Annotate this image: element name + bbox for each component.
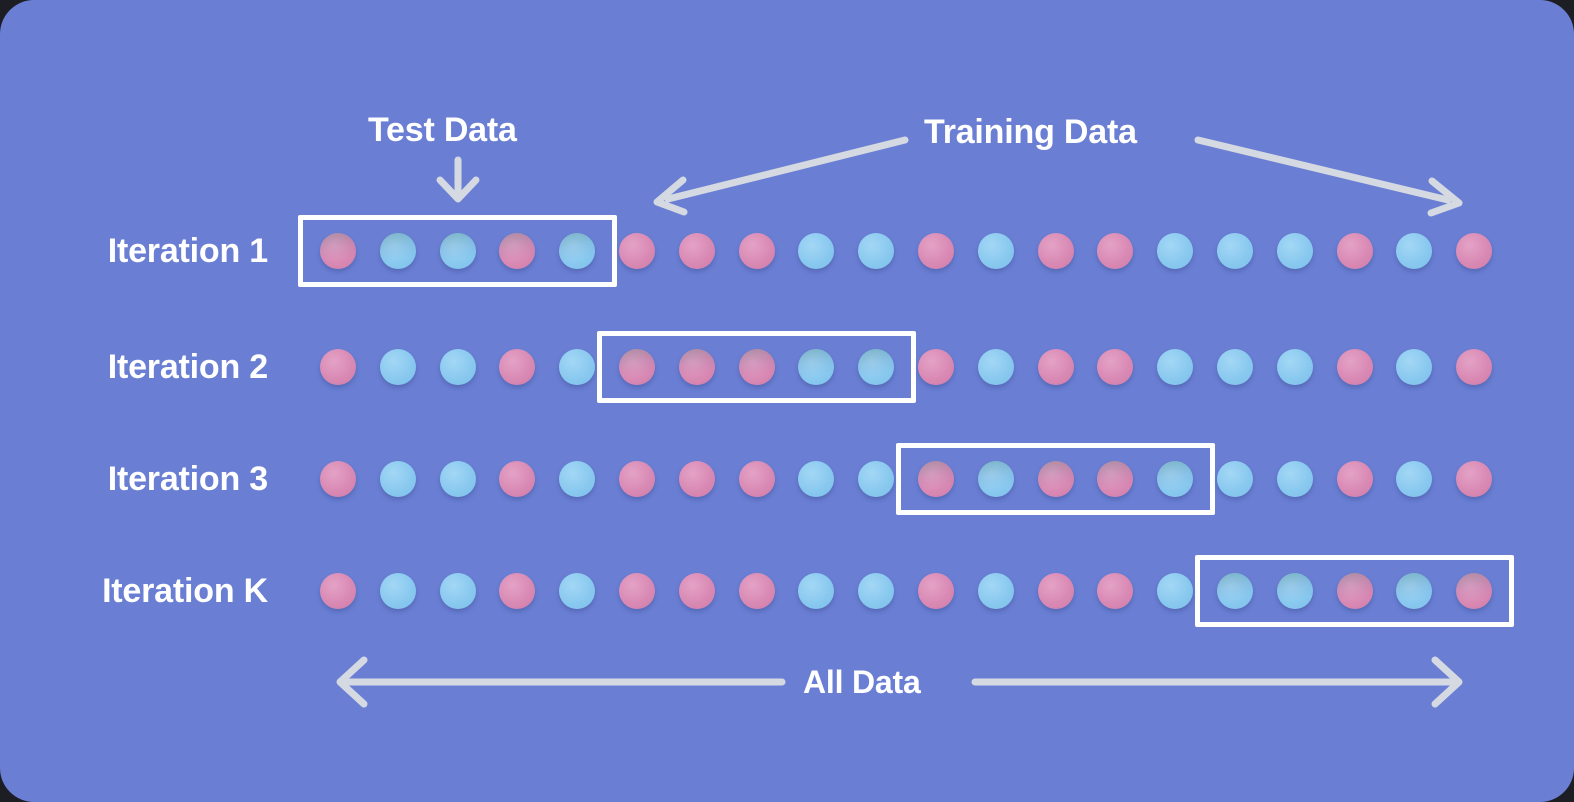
training-dot [1097, 349, 1133, 385]
training-dot [499, 573, 535, 609]
training-dot [499, 461, 535, 497]
test-dot [559, 233, 595, 269]
test-dot [619, 349, 655, 385]
training-dot [499, 349, 535, 385]
test-dot [858, 349, 894, 385]
test-data-arrow [440, 160, 476, 199]
test-dot [440, 233, 476, 269]
training-dot [679, 233, 715, 269]
training-data-title: Training Data [924, 110, 1137, 154]
training-dot [798, 461, 834, 497]
iteration-label: Iteration 2 [0, 347, 268, 387]
training-dot [739, 233, 775, 269]
training-dot [380, 461, 416, 497]
training-dot [918, 573, 954, 609]
test-dot [1456, 573, 1492, 609]
training-dot [918, 233, 954, 269]
training-dot [380, 573, 416, 609]
training-dot [1337, 233, 1373, 269]
iteration-label: Iteration K [0, 571, 268, 611]
diagram-panel: Test Data Training Data All Data Iterati… [0, 0, 1574, 802]
training-dot [1337, 461, 1373, 497]
test-dot [739, 349, 775, 385]
training-dot [1217, 233, 1253, 269]
training-dot [978, 349, 1014, 385]
training-dot [1038, 349, 1074, 385]
test-dot [1277, 573, 1313, 609]
training-dot [1456, 233, 1492, 269]
training-dot [1396, 461, 1432, 497]
training-dot [739, 461, 775, 497]
training-dot [1456, 349, 1492, 385]
training-dot [320, 349, 356, 385]
training-dot [1277, 461, 1313, 497]
training-dot [739, 573, 775, 609]
training-dot [679, 461, 715, 497]
training-dot [559, 349, 595, 385]
training-dot [619, 461, 655, 497]
training-dot [1157, 233, 1193, 269]
test-dot [320, 233, 356, 269]
training-dot [559, 461, 595, 497]
all-data-arrow-left [340, 660, 782, 704]
training-dot [679, 573, 715, 609]
training-dot [1337, 349, 1373, 385]
training-dot [978, 573, 1014, 609]
training-dot [1038, 233, 1074, 269]
test-data-title: Test Data [368, 108, 517, 152]
training-dot [918, 349, 954, 385]
diagram-canvas: Test Data Training Data All Data Iterati… [0, 0, 1574, 802]
training-dot [320, 573, 356, 609]
training-dot [1157, 573, 1193, 609]
training-dot [798, 573, 834, 609]
training-dot [978, 233, 1014, 269]
training-dot [619, 233, 655, 269]
all-data-title: All Data [803, 662, 921, 702]
training-dot [858, 573, 894, 609]
training-dot [559, 573, 595, 609]
training-dot [380, 349, 416, 385]
test-dot [978, 461, 1014, 497]
training-dot [1456, 461, 1492, 497]
test-dot [679, 349, 715, 385]
test-dot [1217, 573, 1253, 609]
all-data-arrow-right [975, 660, 1459, 704]
training-dot [1217, 349, 1253, 385]
test-dot [380, 233, 416, 269]
training-dot [1396, 349, 1432, 385]
training-dot [798, 233, 834, 269]
iteration-label: Iteration 3 [0, 459, 268, 499]
training-dot [1097, 573, 1133, 609]
training-dot [440, 349, 476, 385]
training-data-right-arrow [1198, 140, 1459, 213]
test-dot [1337, 573, 1373, 609]
training-dot [1217, 461, 1253, 497]
training-dot [440, 461, 476, 497]
training-dot [1097, 233, 1133, 269]
training-data-left-arrow [657, 140, 905, 212]
test-dot [918, 461, 954, 497]
iteration-label: Iteration 1 [0, 231, 268, 271]
training-dot [858, 461, 894, 497]
training-dot [858, 233, 894, 269]
training-dot [1396, 233, 1432, 269]
training-dot [320, 461, 356, 497]
training-dot [1277, 233, 1313, 269]
training-dot [440, 573, 476, 609]
training-dot [1038, 573, 1074, 609]
training-dot [619, 573, 655, 609]
training-dot [1277, 349, 1313, 385]
test-dot [1157, 461, 1193, 497]
training-dot [1157, 349, 1193, 385]
test-dot [1038, 461, 1074, 497]
